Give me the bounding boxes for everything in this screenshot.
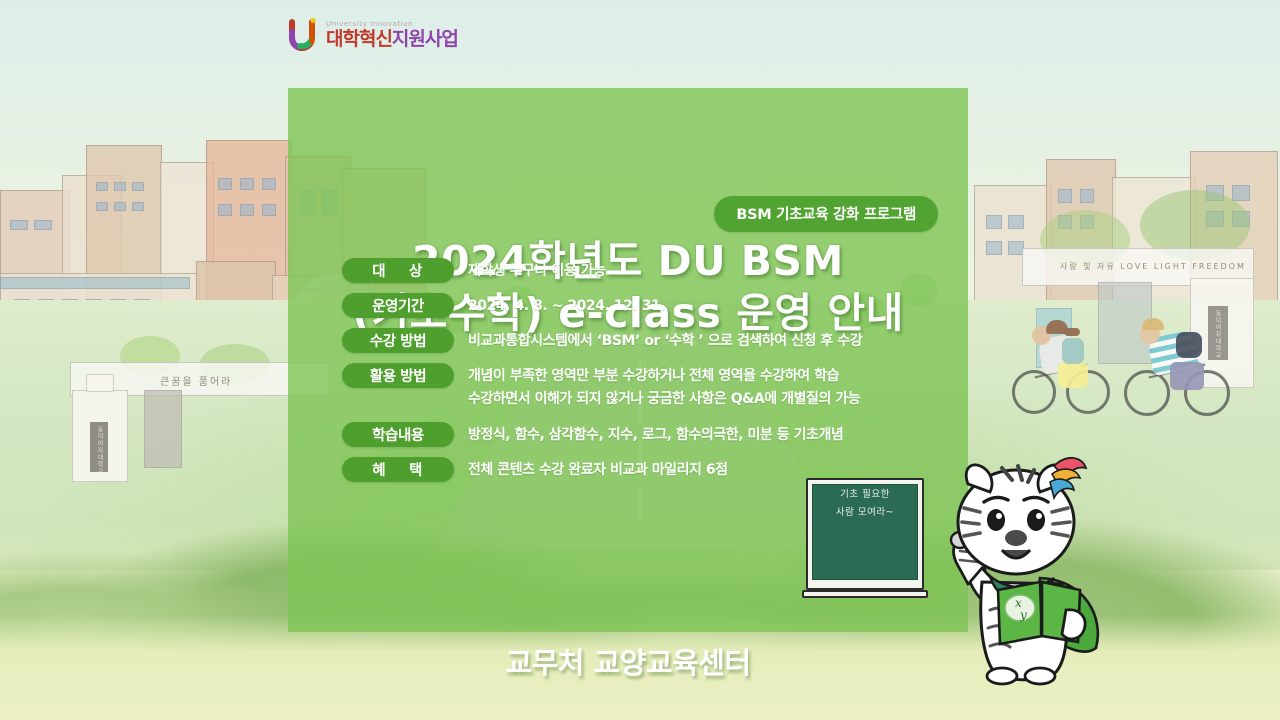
- cyclist-left: [1012, 318, 1122, 418]
- info-label-curriculum: 학습내용: [342, 422, 454, 447]
- right-gate-sign-text: 사랑 빛 자유 LOVE LIGHT FREEDOM: [1060, 261, 1246, 272]
- organizer-name: 교무처 교양교육센터: [288, 640, 968, 682]
- info-value-enrollment: 비교과통합시스템에서 ‘BSM’ or ‘수학 ’ 으로 검색하여 신청 후 수…: [468, 328, 862, 353]
- info-row-enrollment: 수강 방법 비교과통합시스템에서 ‘BSM’ or ‘수학 ’ 으로 검색하여 …: [342, 328, 942, 353]
- left-gate-sign-text: 큰꿈을 품어라: [160, 373, 232, 388]
- uj-logo-mark-icon: [288, 18, 320, 52]
- info-row-curriculum: 학습내용 방정식, 함수, 삼각함수, 지수, 로그, 함수의극한, 미분 등 …: [342, 422, 942, 447]
- white-tiger-mascot: x y: [890, 450, 1140, 700]
- university-innovation-logo: University Innovation 대학혁신지원사업: [288, 14, 468, 56]
- info-row-usage: 활용 방법 개념이 부족한 영역만 부분 수강하거나 전체 영역을 수강하여 학…: [342, 363, 942, 410]
- svg-text:y: y: [1019, 608, 1027, 622]
- info-label-benefit-a: 혜: [372, 459, 387, 480]
- left-pillar-sign-text: 동덕여자대학교: [95, 426, 104, 475]
- tree-blob: [1140, 190, 1250, 260]
- logo-title: 대학혁신지원사업: [326, 30, 458, 49]
- info-label-usage: 활용 방법: [342, 363, 454, 388]
- info-rows: 대상 재학생 누구나 이용 가능 운영기간 2024. 4. 8. ~ 2024…: [342, 258, 942, 492]
- tree-blob: [200, 344, 270, 384]
- cyclist-right: [1124, 318, 1244, 420]
- info-label-target-a: 대: [372, 260, 387, 281]
- info-label-benefit: 혜택: [342, 457, 454, 482]
- info-label-enrollment: 수강 방법: [342, 328, 454, 353]
- logo-subtitle: University Innovation: [326, 21, 458, 28]
- info-label-period: 운영기간: [342, 293, 454, 318]
- info-label-benefit-b: 택: [409, 459, 424, 480]
- info-value-usage-line1: 개념이 부족한 영역만 부분 수강하거나 전체 영역을 수강하여 학습: [468, 365, 860, 388]
- info-value-period: 2024. 4. 8. ~ 2024. 12. 31.: [468, 293, 665, 318]
- info-value-usage-line2: 수강하면서 이해가 되지 않거나 궁금한 사항은 Q&A에 개별질의 가능: [468, 388, 860, 411]
- poster-canvas: 큰꿈을 품어라 동덕여자대학교 사랑 빛 자유 LOVE LIGHT FREED…: [0, 0, 1280, 720]
- info-value-target: 재학생 누구나 이용 가능: [468, 258, 606, 283]
- info-label-target-b: 상: [409, 260, 424, 281]
- info-value-usage: 개념이 부족한 영역만 부분 수강하거나 전체 영역을 수강하여 학습 수강하면…: [468, 363, 860, 410]
- info-value-benefit: 전체 콘텐츠 수강 완료자 비교과 마일리지 6점: [468, 457, 728, 482]
- info-label-target: 대상: [342, 258, 454, 283]
- info-row-target: 대상 재학생 누구나 이용 가능: [342, 258, 942, 283]
- logo-title-part1: 대학혁신: [326, 28, 392, 50]
- info-value-curriculum: 방정식, 함수, 삼각함수, 지수, 로그, 함수의극한, 미분 등 기초개념: [468, 422, 843, 447]
- tree-blob: [1040, 210, 1130, 270]
- program-badge: BSM 기초교육 강화 프로그램: [714, 196, 938, 232]
- tree-blob: [120, 336, 180, 376]
- logo-title-part2: 지원사업: [392, 28, 458, 50]
- info-row-period: 운영기간 2024. 4. 8. ~ 2024. 12. 31.: [342, 293, 942, 318]
